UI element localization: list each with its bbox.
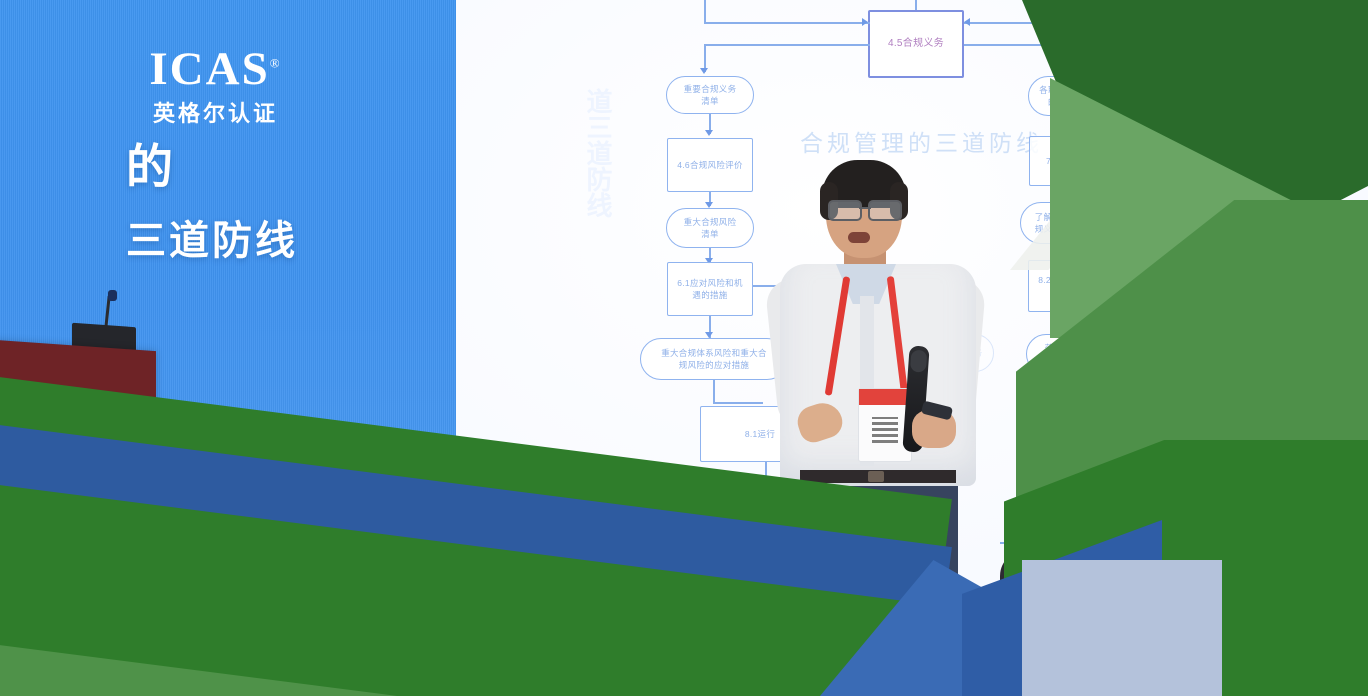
flow-node-left-0: 重要合规义务 清单 xyxy=(666,76,754,114)
icas-logo-subtitle: 英格尔认证 xyxy=(119,96,312,128)
arrow-icon xyxy=(862,18,868,26)
node-label: 4.6合规风险评价 xyxy=(677,159,743,171)
overlay-blue-panel-light xyxy=(1022,560,1222,696)
connector xyxy=(704,22,870,24)
flow-node-left-1: 4.6合规风险评价 xyxy=(667,138,753,192)
speaker-mouth xyxy=(848,232,870,243)
registered-mark-icon: ® xyxy=(270,55,282,70)
node-label: 6.1应对风险和机 遇的措施 xyxy=(677,277,743,301)
node-label: 8.1运行 xyxy=(745,428,775,440)
flow-node-left-4: 重大合规体系风险和重大合 规风险的应对措施 xyxy=(640,338,788,380)
arrow-icon xyxy=(700,68,708,74)
node-label: 重大合规风险 清单 xyxy=(684,216,737,240)
connector xyxy=(713,380,715,402)
slide-title: 合规管理的三道防线 xyxy=(800,124,1043,158)
node-label: 重大合规体系风险和重大合 规风险的应对措施 xyxy=(661,347,767,371)
led-headline-line2: 三道防线 xyxy=(126,208,298,266)
flow-node-left-2: 重大合规风险 清单 xyxy=(666,208,754,248)
connector xyxy=(915,0,917,10)
node-label: 重要合规义务 清单 xyxy=(684,83,737,107)
flow-node-key: 4.5合规义务 xyxy=(868,10,964,78)
presentation-photo: 道三道防线 合规管理的三道防线 4.5合规义务 重要合规义务 清单 4.6合规风… xyxy=(0,0,1368,696)
icas-logo-text: ICAS xyxy=(149,43,269,95)
icas-logo: ICAS® xyxy=(119,42,312,96)
speaker-belt-buckle xyxy=(868,471,884,482)
slide-watermark: 道三道防线 xyxy=(578,88,618,218)
connector xyxy=(704,0,706,22)
badge-header-bar xyxy=(859,389,911,405)
arrow-icon xyxy=(705,130,713,136)
qr-code-icon xyxy=(872,417,898,443)
arrow-icon xyxy=(964,18,970,26)
speaker-glasses-icon xyxy=(828,200,902,218)
connector xyxy=(713,402,763,404)
podium-microphone-icon xyxy=(108,290,117,301)
flow-node-left-3: 6.1应对风险和机 遇的措施 xyxy=(667,262,753,316)
connector xyxy=(704,44,870,46)
